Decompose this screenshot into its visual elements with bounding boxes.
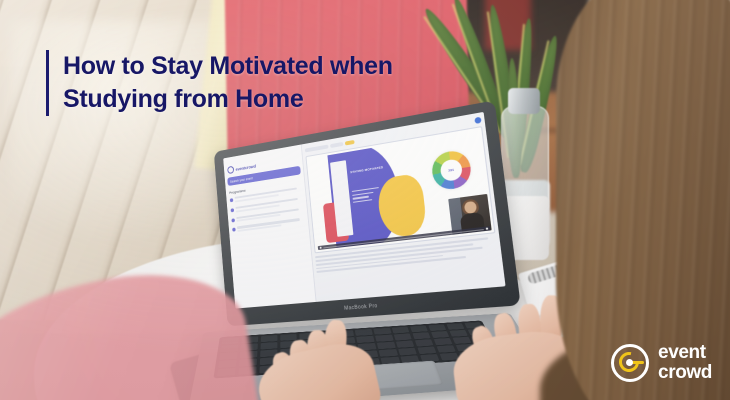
page-title: How to Stay Motivated when Studying from…	[46, 50, 393, 116]
volume-icon[interactable]	[486, 228, 488, 230]
logo-wordmark: event crowd	[658, 343, 712, 382]
eventcrowd-circle-mark	[227, 166, 234, 174]
app-sidebar: eventcrowd Search your event Programme	[223, 144, 317, 308]
woman-hair	[556, 0, 730, 400]
agenda-bullet-icon	[231, 218, 235, 222]
avatar[interactable]	[474, 117, 481, 124]
headline-text: How to Stay Motivated when Studying from…	[63, 50, 393, 116]
logo-line-crowd: crowd	[658, 363, 712, 382]
logo-line-event: event	[658, 343, 712, 362]
eventcrowd-logo[interactable]: event crowd	[611, 343, 712, 382]
play-icon[interactable]	[320, 247, 322, 249]
laptop-screen: eventcrowd Search your event Programme	[223, 112, 505, 309]
breadcrumb	[305, 145, 329, 153]
app-main-panel: STAYING MOTIVATED 2021	[302, 112, 506, 302]
tab-settings[interactable]	[330, 142, 343, 148]
logo-center-dot	[626, 359, 633, 366]
blog-header-banner: eventcrowd Search your event Programme	[0, 0, 730, 400]
eventcrowd-circle-mark	[611, 344, 649, 382]
donut-chart: 2021	[430, 149, 473, 192]
title-accent-bar	[46, 50, 49, 116]
agenda-bullet-icon	[231, 208, 235, 212]
donut-center-label: 2021	[430, 149, 473, 192]
status-badge	[345, 140, 355, 146]
agenda-bullet-icon	[232, 228, 236, 232]
app-brand-label: eventcrowd	[235, 163, 256, 171]
eventcrowd-app: eventcrowd Search your event Programme	[223, 112, 505, 309]
bottle-cap	[508, 88, 540, 114]
laptop-lid: eventcrowd Search your event Programme	[214, 100, 521, 326]
agenda-bullet-icon	[230, 198, 234, 202]
